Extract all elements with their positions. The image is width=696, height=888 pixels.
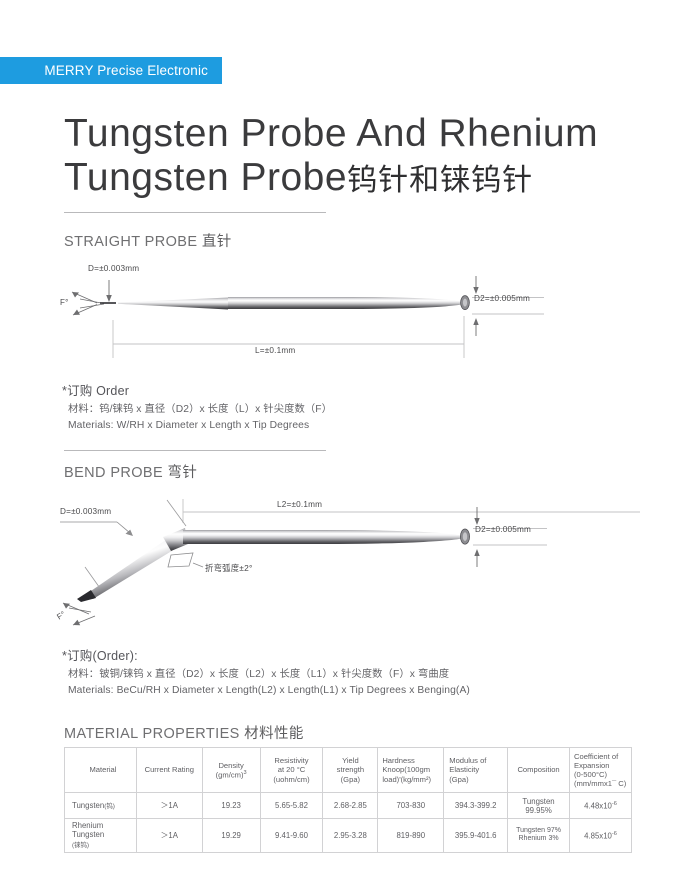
straight-tip-angle-label: F°	[60, 298, 69, 307]
cell-expansion: 4.48x10-6	[570, 793, 632, 819]
bend-probe-diagram: D=±0.003mm L2=±0.1mm	[55, 495, 640, 635]
page-title-line1: Tungsten Probe And Rhenium	[64, 112, 664, 156]
table-header-modulus-elasticity: Modulus of Elasticity (Gpa)	[444, 748, 508, 793]
table-row: Rhenium Tungsten(铼钨) ＞1A 19.29 9.41-9.60…	[65, 819, 632, 853]
divider-title	[64, 212, 326, 213]
straight-probe-diagram: D=±0.003mm F°	[60, 258, 640, 368]
header-banner: MERRY Precise Electronic	[0, 57, 222, 84]
section-heading-material-properties: MATERIAL PROPERTIES 材料性能	[64, 722, 304, 743]
straight-probe-heading-cn: 直针	[202, 234, 232, 250]
table-header-row: Material Current Rating Density (gm/cm)3…	[65, 748, 632, 793]
straight-probe-shaft	[228, 297, 465, 310]
section-heading-bend-probe: BEND PROBE 弯针	[64, 461, 197, 482]
table-row: Tungsten(钨) ＞1A 19.23 5.65-5.82 2.68-2.8…	[65, 793, 632, 819]
cell-current-rating: ＞1A	[136, 793, 202, 819]
page-title-line2-cn: 钨针和铼钨针	[347, 164, 533, 197]
bend-probe-heading-cn: 弯针	[168, 465, 198, 481]
straight-d2-annotation	[472, 270, 602, 340]
table-header-hardness: Hardness Knoop(100gm load)'(kg/mm²)	[378, 748, 444, 793]
section-heading-straight-probe: STRAIGHT PROBE 直针	[64, 230, 232, 251]
table-header-resistivity: Resistivity at 20 °C (uohm/cm)	[260, 748, 323, 793]
bend-order-title: *订购(Order):	[62, 645, 470, 664]
bend-order-en: Materials: BeCu/RH x Diameter x Length(L…	[62, 683, 470, 699]
cell-resistivity: 9.41-9.60	[260, 819, 323, 853]
cell-composition: Tungsten 97% Rhenium 3%	[508, 819, 570, 853]
table-header-composition: Composition	[508, 748, 570, 793]
cell-expansion: 4.85x10-6	[570, 819, 632, 853]
page-title-line2: Tungsten Probe钨针和铼钨针	[64, 156, 664, 200]
bend-order-cn: 材料：铍铜/铼钨 x 直径（D2）x 长度（L2）x 长度（L1）x 针尖度数（…	[62, 667, 470, 683]
straight-order-en: Materials: W/RH x Diameter x Length x Ti…	[62, 418, 332, 434]
company-name: MERRY Precise Electronic	[44, 63, 208, 78]
straight-probe-heading-en: STRAIGHT PROBE	[64, 234, 197, 250]
straight-probe-order: *订购 Order 材料：钨/铼钨 x 直径（D2）x 长度（L）x 针尖度数（…	[62, 380, 332, 434]
cell-hardness: 703-830	[378, 793, 444, 819]
cell-material: Rhenium Tungsten(铼钨)	[65, 819, 137, 853]
bend-probe-order: *订购(Order): 材料：铍铜/铼钨 x 直径（D2）x 长度（L2）x 长…	[62, 645, 470, 699]
cell-modulus: 395.9-401.6	[444, 819, 508, 853]
straight-order-title: *订购 Order	[62, 380, 332, 399]
cell-resistivity: 5.65-5.82	[260, 793, 323, 819]
cell-yield-strength: 2.68-2.85	[323, 793, 378, 819]
bend-probe-shaft	[183, 530, 465, 544]
page-title-line2-en: Tungsten Probe	[64, 156, 347, 199]
straight-diameter2-label: D2=±0.005mm	[474, 294, 530, 303]
table-header-density: Density (gm/cm)3	[202, 748, 260, 793]
cell-density: 19.29	[202, 819, 260, 853]
table-header-material: Material	[65, 748, 137, 793]
page-title: Tungsten Probe And Rhenium Tungsten Prob…	[64, 112, 664, 200]
straight-order-cn: 材料：钨/铼钨 x 直径（D2）x 长度（L）x 针尖度数（F）	[62, 402, 332, 418]
table-header-coefficient-expansion: Coefficient of Expansion (0-500°C) (mm/m…	[570, 748, 632, 793]
material-properties-table: Material Current Rating Density (gm/cm)3…	[64, 747, 632, 853]
bend-probe-heading-en: BEND PROBE	[64, 465, 163, 481]
table-header-current-rating: Current Rating	[136, 748, 202, 793]
material-heading-en: MATERIAL PROPERTIES	[64, 726, 240, 742]
material-heading-cn: 材料性能	[244, 726, 304, 742]
cell-yield-strength: 2.95-3.28	[323, 819, 378, 853]
bend-d2-annotation	[473, 503, 603, 573]
straight-length-label: L=±0.1mm	[255, 346, 295, 355]
bend-angle-label: 折弯弧度±2°	[205, 562, 253, 574]
cell-density: 19.23	[202, 793, 260, 819]
cell-hardness: 819-890	[378, 819, 444, 853]
table-header-yield-strength: Yield strength (Gpa)	[323, 748, 378, 793]
divider-bend-probe	[64, 450, 326, 451]
bend-diameter2-label: D2=±0.005mm	[475, 525, 531, 534]
cell-composition: Tungsten 99.95%	[508, 793, 570, 819]
cell-material: Tungsten(钨)	[65, 793, 137, 819]
cell-current-rating: ＞1A	[136, 819, 202, 853]
cell-modulus: 394.3-399.2	[444, 793, 508, 819]
